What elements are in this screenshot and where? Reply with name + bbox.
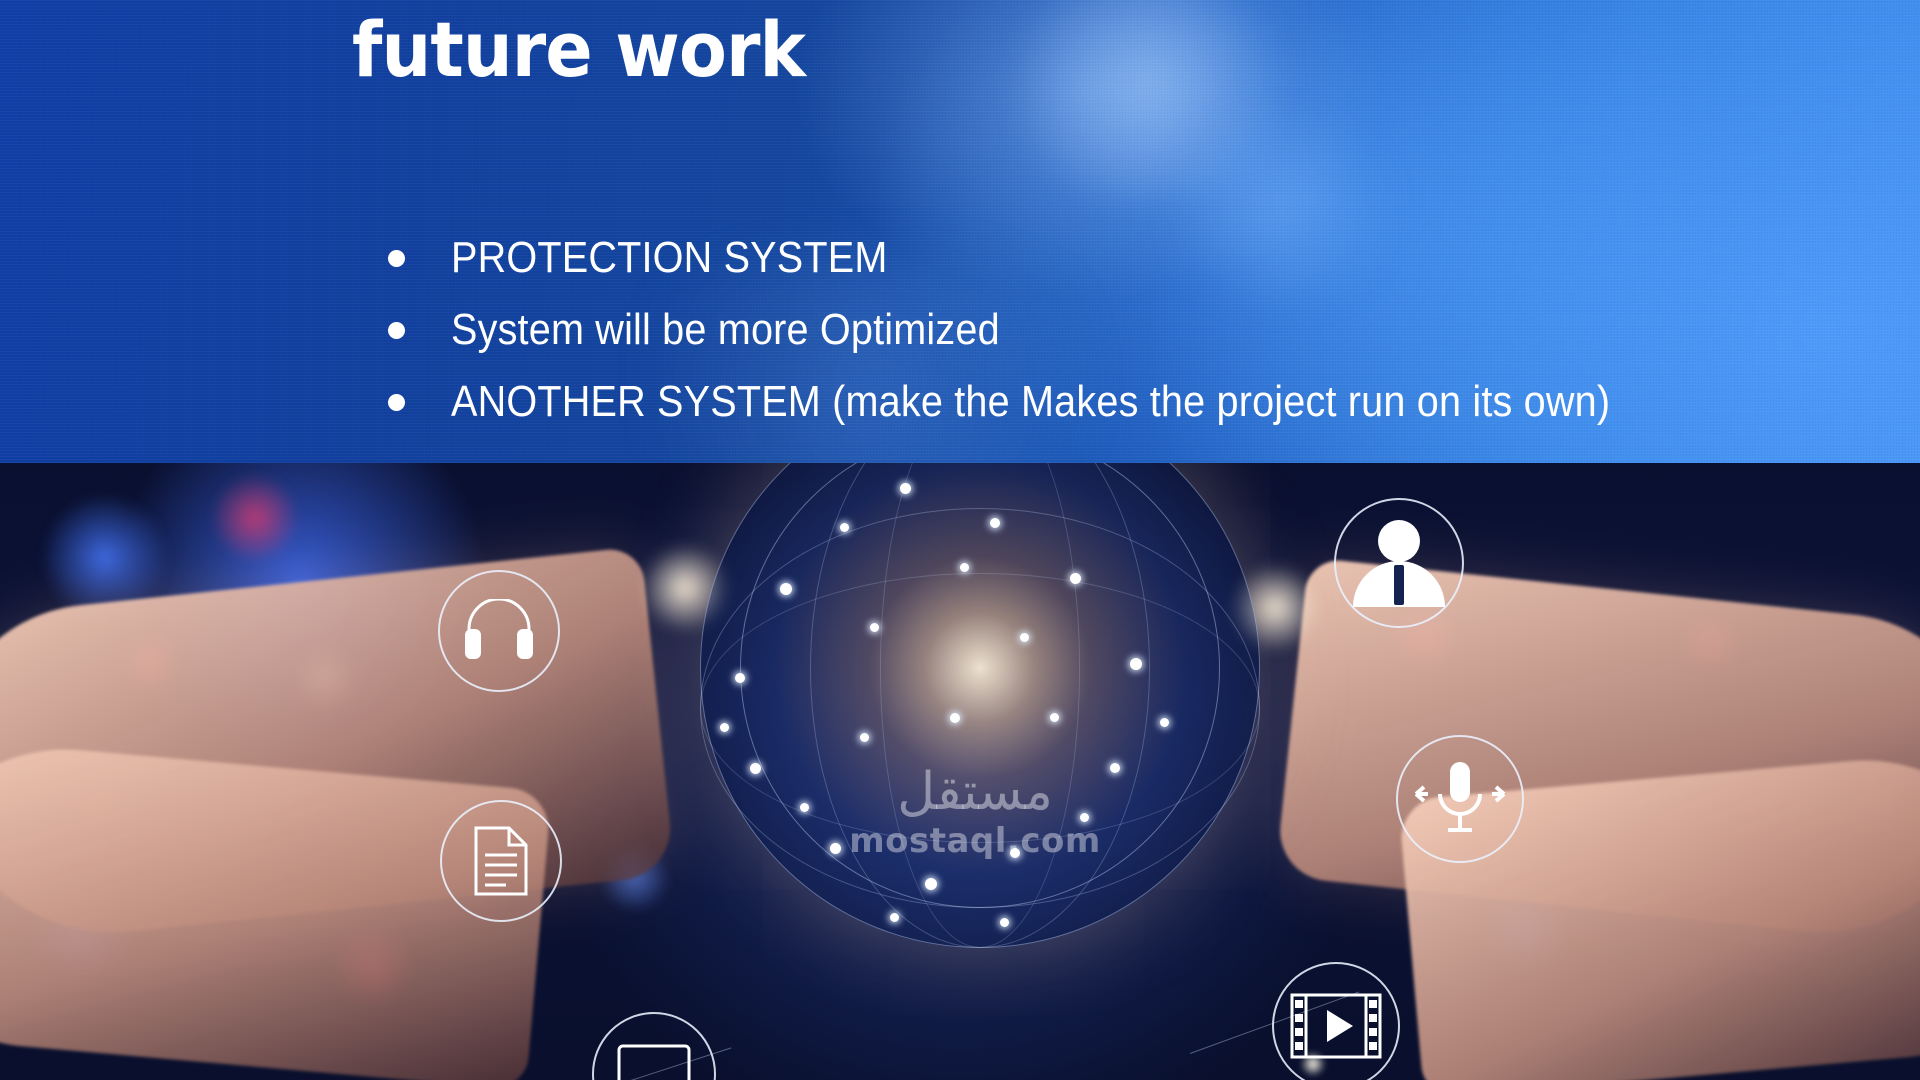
microphone-icon[interactable] [1396,735,1524,863]
globe-node [1020,633,1029,642]
bullet-dot-icon [388,394,405,411]
list-item: System will be more Optimized [388,300,1888,372]
globe-ring-lat2 [700,573,1260,843]
display-icon[interactable] [592,1012,716,1080]
globe-node [1080,813,1089,822]
user-profile-icon[interactable] [1334,498,1464,628]
bullet-dot-icon [388,322,405,339]
globe-node [925,878,937,890]
video-play-icon[interactable] [1272,962,1400,1080]
globe-node [960,563,969,572]
globe-node [1110,763,1120,773]
globe-node [1010,848,1020,858]
globe-node [870,623,879,632]
list-item: ANOTHER SYSTEM (make the Makes the proje… [388,372,1888,444]
globe-node [735,673,745,683]
bullet-label: PROTECTION SYSTEM [451,228,888,288]
globe-node [750,763,761,774]
page-title: future work [352,6,805,94]
headphones-icon[interactable] [438,570,560,692]
globe-node [1130,658,1142,670]
slide-header-band: future work PROTECTION SYSTEM System wil… [0,0,1920,463]
document-icon[interactable] [440,800,562,922]
globe-node [1050,713,1059,722]
globe-node [990,518,1000,528]
globe-node [1160,718,1169,727]
globe-node [720,723,729,732]
bullet-dot-icon [388,250,405,267]
bullet-label: System will be more Optimized [451,300,1000,360]
globe-node [950,713,960,723]
slide-photo: مستقل mostaql.com [0,463,1920,1080]
bullet-list: PROTECTION SYSTEM System will be more Op… [388,228,1888,444]
globe-node [830,843,841,854]
globe-node [800,803,809,812]
globe-node [840,523,849,532]
bullet-label: ANOTHER SYSTEM (make the Makes the proje… [451,372,1610,432]
globe-node [900,483,911,494]
globe-node [780,583,792,595]
presentation-slide: future work PROTECTION SYSTEM System wil… [0,0,1920,1080]
list-item: PROTECTION SYSTEM [388,228,1888,300]
globe-node [890,913,899,922]
globe-node [860,733,869,742]
globe-node [1070,573,1081,584]
bokeh-pink [210,473,300,563]
globe-node [1000,918,1009,927]
